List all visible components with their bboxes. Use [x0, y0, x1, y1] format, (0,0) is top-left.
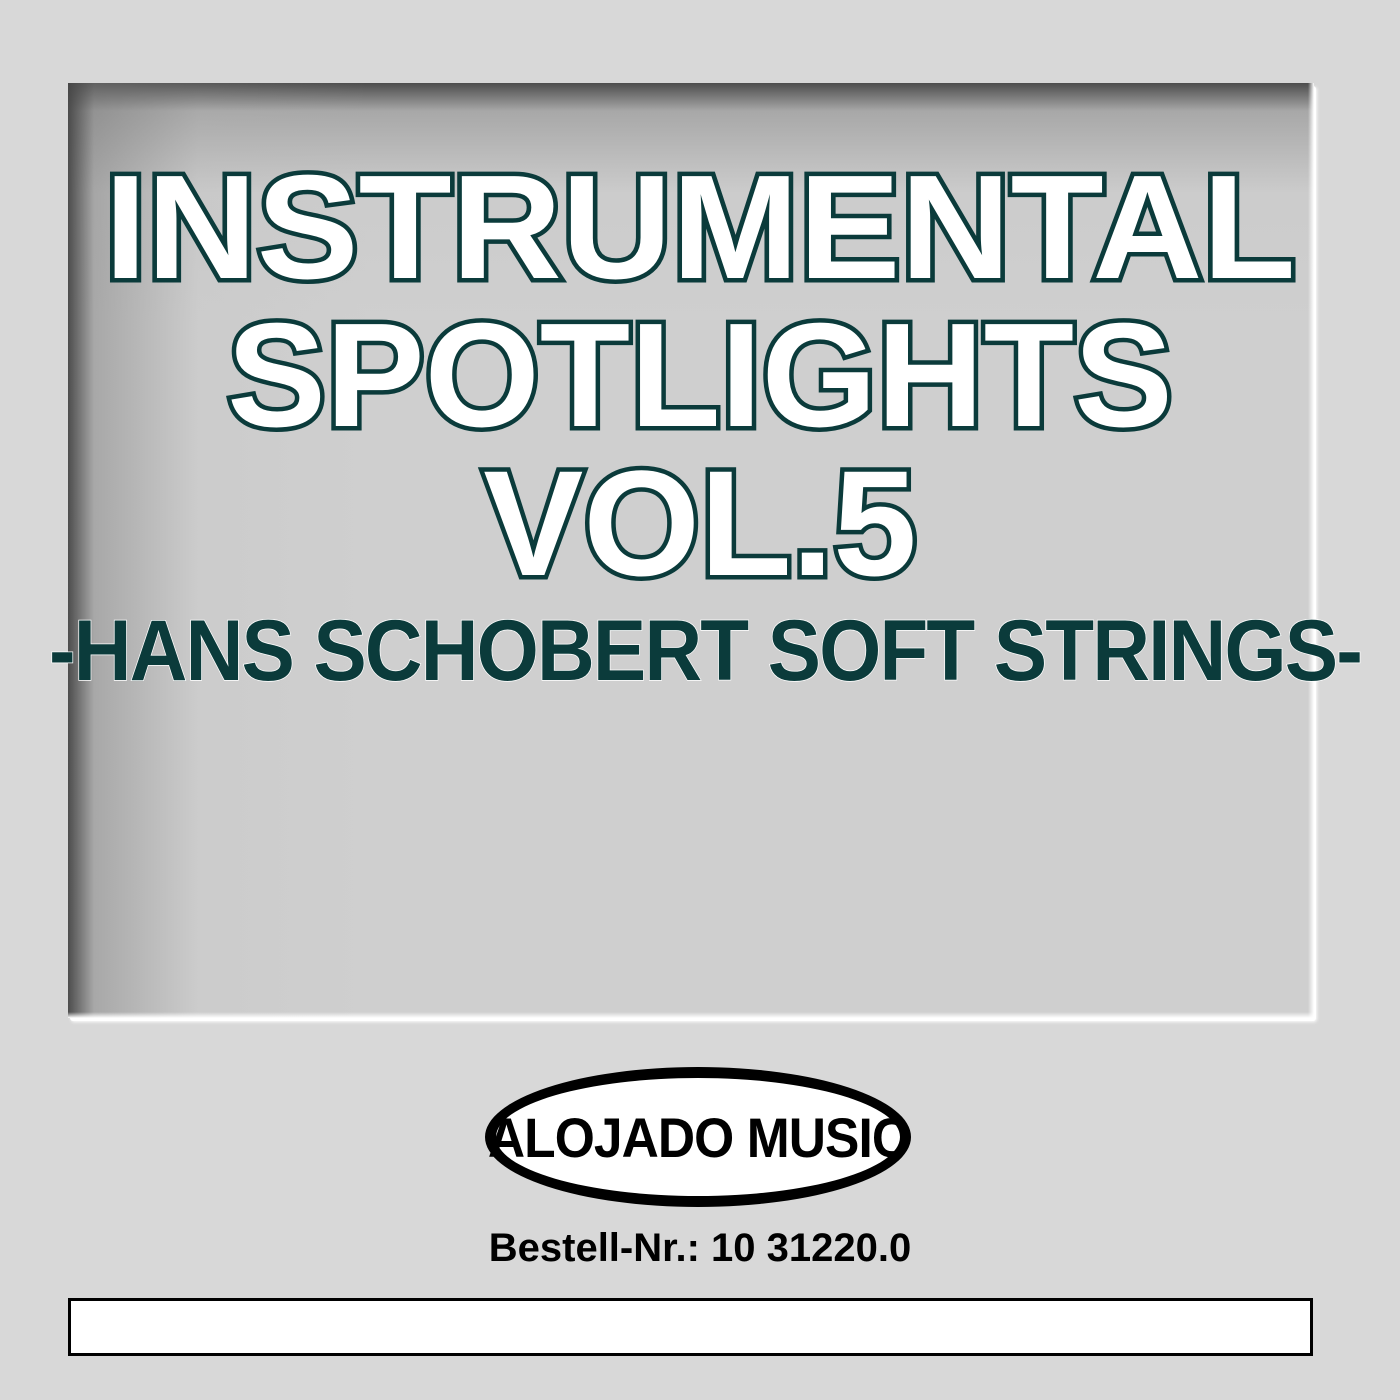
bottom-blank-strip [68, 1298, 1313, 1356]
frame-top-shadow [68, 83, 1314, 323]
frame-bottom-highlight [68, 1012, 1314, 1018]
frame-left-shadow [68, 83, 368, 1018]
frame-right-highlight [1308, 83, 1314, 1018]
catalog-order-number: Bestell-Nr.: 10 31220.0 [0, 1226, 1400, 1271]
label-logo: ALOJADO MUSIC [485, 1067, 911, 1207]
beveled-frame [68, 83, 1314, 1018]
logo-label-text: ALOJADO MUSIC [502, 1067, 894, 1207]
album-cover: INSTRUMENTAL SPOTLIGHTS VOL.5 -HANS SCHO… [0, 0, 1400, 1400]
